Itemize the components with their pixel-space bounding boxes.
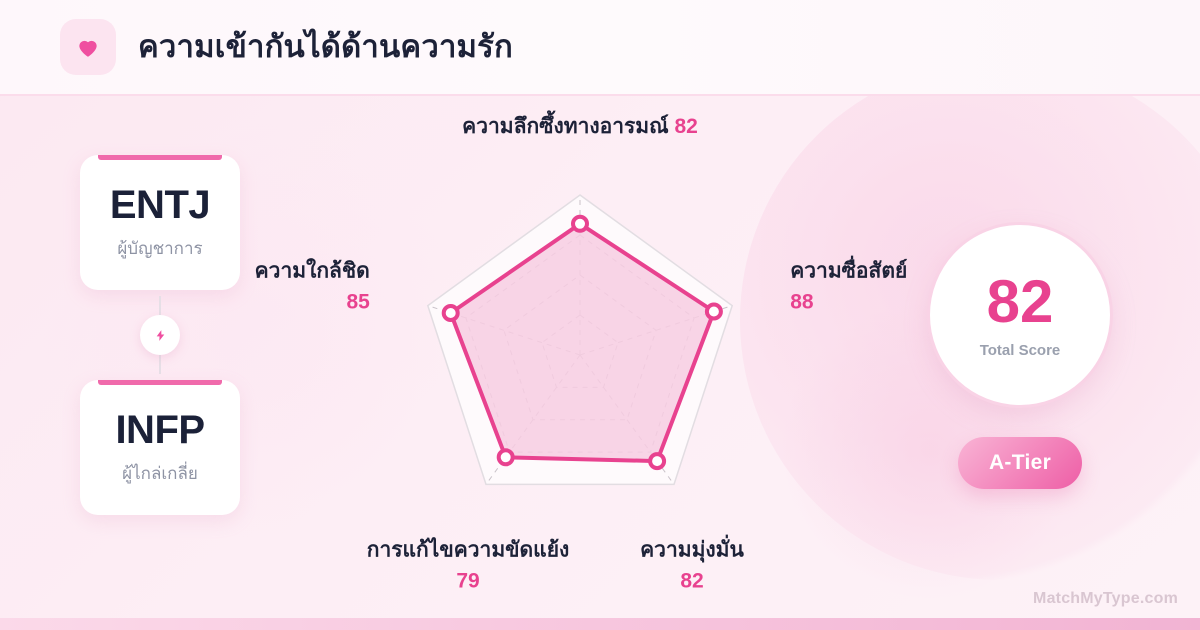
heart-icon: [75, 34, 101, 60]
tier-badge: A-Tier: [958, 437, 1082, 489]
svg-text:82: 82: [680, 569, 703, 592]
header-bar: ความเข้ากันได้ด้านความรัก: [0, 0, 1200, 96]
watermark: MatchMyType.com: [1033, 590, 1178, 608]
svg-text:ความมุ่งมั่น: ความมุ่งมั่น: [640, 533, 744, 563]
type-code-second: INFP: [115, 410, 204, 450]
total-score-label: Total Score: [980, 342, 1061, 359]
type-nickname-first: ผู้บัญชาการ: [117, 239, 202, 259]
svg-text:88: 88: [790, 291, 814, 314]
heart-icon-badge: [60, 19, 116, 75]
type-card-first[interactable]: ENTJ ผู้บัญชาการ: [80, 155, 240, 290]
type-pair-column: ENTJ ผู้บัญชาการ INFP ผู้ไกล่เกลี่ย: [80, 155, 240, 515]
svg-text:79: 79: [456, 569, 479, 592]
type-connector: [80, 290, 240, 380]
page-title: ความเข้ากันได้ด้านความรัก: [138, 28, 513, 65]
type-code-first: ENTJ: [110, 185, 210, 225]
total-score-value: 82: [987, 272, 1054, 332]
svg-text:85: 85: [346, 291, 370, 314]
radar-chart: ความลึกซึ้งทางอารมณ์ 8288ความซื่อสัตย์82…: [300, 110, 860, 600]
connector-line-bottom: [159, 352, 161, 374]
svg-text:การแก้ไขความขัดแย้ง: การแก้ไขความขัดแย้ง: [367, 536, 570, 561]
total-score-circle: 82 Total Score: [930, 225, 1110, 405]
svg-text:ความซื่อสัตย์: ความซื่อสัตย์: [790, 255, 907, 283]
score-panel: 82 Total Score A-Tier: [930, 225, 1110, 489]
type-card-second[interactable]: INFP ผู้ไกล่เกลี่ย: [80, 380, 240, 515]
infographic-canvas: ความเข้ากันได้ด้านความรัก ENTJ ผู้บัญชาก…: [0, 0, 1200, 630]
lightning-bolt-icon: [154, 329, 167, 342]
svg-text:ความใกล้ชิด: ความใกล้ชิด: [255, 258, 370, 283]
type-nickname-second: ผู้ไกล่เกลี่ย: [122, 464, 198, 484]
bottom-accent-bar: [0, 618, 1200, 630]
svg-text:ความลึกซึ้งทางอารมณ์ 82: ความลึกซึ้งทางอารมณ์ 82: [462, 110, 698, 138]
lightning-bolt-badge: [140, 315, 180, 355]
